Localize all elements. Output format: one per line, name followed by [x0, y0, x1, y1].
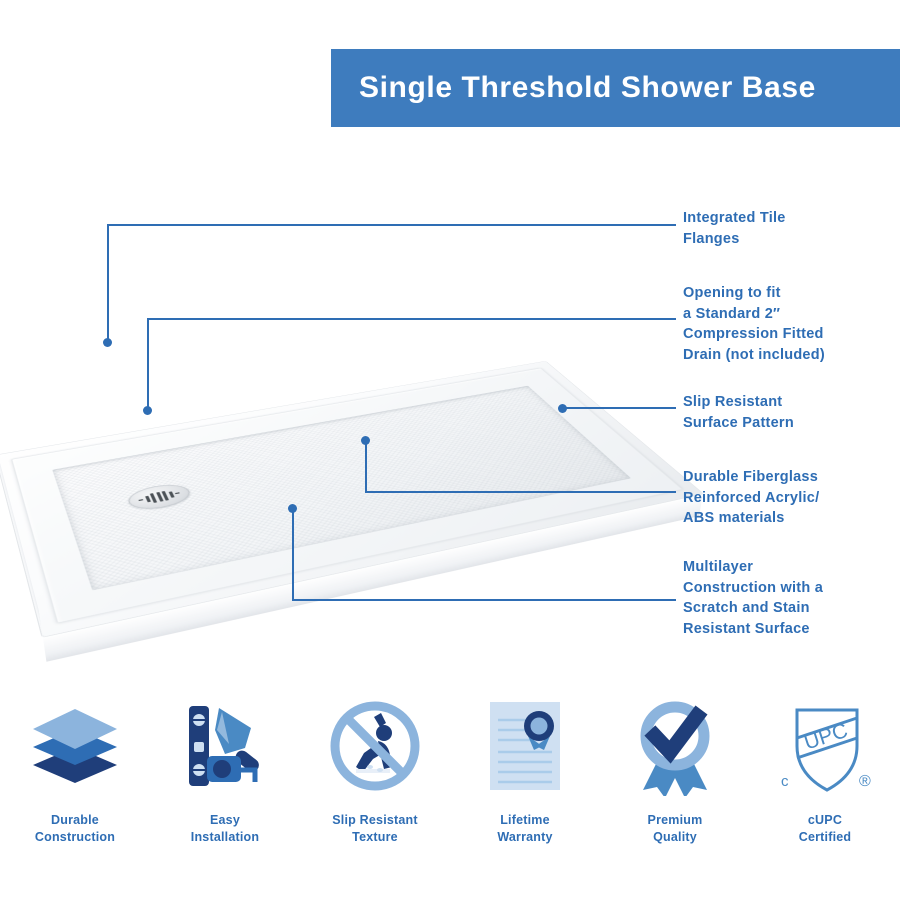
base-top-slab	[0, 361, 703, 637]
drain-tick-left	[138, 499, 143, 501]
feature-label: Slip Resistant Texture	[332, 812, 417, 846]
certificate-icon	[482, 690, 568, 802]
feature-premium-quality: Premium Quality	[600, 690, 750, 846]
drain-grate-icon	[125, 481, 195, 513]
callout-drain-opening: Opening to fit a Standard 2″ Compression…	[683, 283, 825, 365]
upc-right-mark: ®	[859, 773, 871, 790]
feature-label: Durable Construction	[35, 812, 115, 846]
check-ribbon-icon	[629, 690, 721, 802]
feature-cupc-certified: UPC c ® cUPC Certified	[750, 690, 900, 846]
upc-left-mark: c	[781, 773, 789, 790]
leader-line-tile-flanges-v	[107, 224, 109, 342]
no-slip-icon	[326, 690, 424, 802]
feature-label: Lifetime Warranty	[497, 812, 552, 846]
feature-badges-row: Durable Construction Easy Installati	[0, 690, 900, 875]
header-banner: Single Threshold Shower Base	[331, 49, 900, 127]
leader-line-multilayer-h	[292, 599, 676, 601]
drain-slot	[168, 491, 174, 498]
drain-slot	[150, 493, 157, 503]
callout-slip-resistant-surface: Slip Resistant Surface Pattern	[683, 392, 794, 433]
feature-durable-construction: Durable Construction	[0, 690, 150, 846]
leader-line-drain-h	[147, 318, 676, 320]
drain-slot	[161, 491, 169, 501]
drain-slot	[155, 492, 162, 502]
infographic-canvas: Single Threshold Shower Base	[0, 0, 900, 900]
callout-fiberglass-acrylic-abs: Durable Fiberglass Reinforced Acrylic/ A…	[683, 467, 819, 529]
feature-easy-installation: Easy Installation	[150, 690, 300, 846]
leader-line-tile-flanges-h	[107, 224, 676, 226]
feature-label: cUPC Certified	[799, 812, 852, 846]
slip-resistant-pan	[52, 386, 631, 591]
feature-label: Easy Installation	[191, 812, 259, 846]
leader-line-multilayer-v	[292, 508, 294, 600]
callout-integrated-tile-flanges: Integrated Tile Flanges	[683, 208, 786, 249]
shower-base-illustration	[0, 318, 690, 553]
feature-label: Premium Quality	[648, 812, 703, 846]
leader-line-fiberglass-h	[365, 491, 676, 493]
page-title: Single Threshold Shower Base	[359, 71, 816, 105]
shower-base-3d	[0, 361, 703, 637]
feature-lifetime-warranty: Lifetime Warranty	[450, 690, 600, 846]
drain-slot	[144, 496, 150, 503]
callout-multilayer-construction: Multilayer Construction with a Scratch a…	[683, 557, 823, 639]
leader-line-drain-v	[147, 318, 149, 410]
feature-slip-resistant: Slip Resistant Texture	[300, 690, 450, 846]
drain-tick-right	[175, 492, 180, 494]
upc-shield-icon: UPC c ®	[775, 690, 875, 802]
tools-icon	[177, 690, 273, 802]
layers-icon	[27, 690, 123, 802]
leader-line-slip-resistant	[562, 407, 676, 409]
leader-line-fiberglass-v	[365, 440, 367, 492]
